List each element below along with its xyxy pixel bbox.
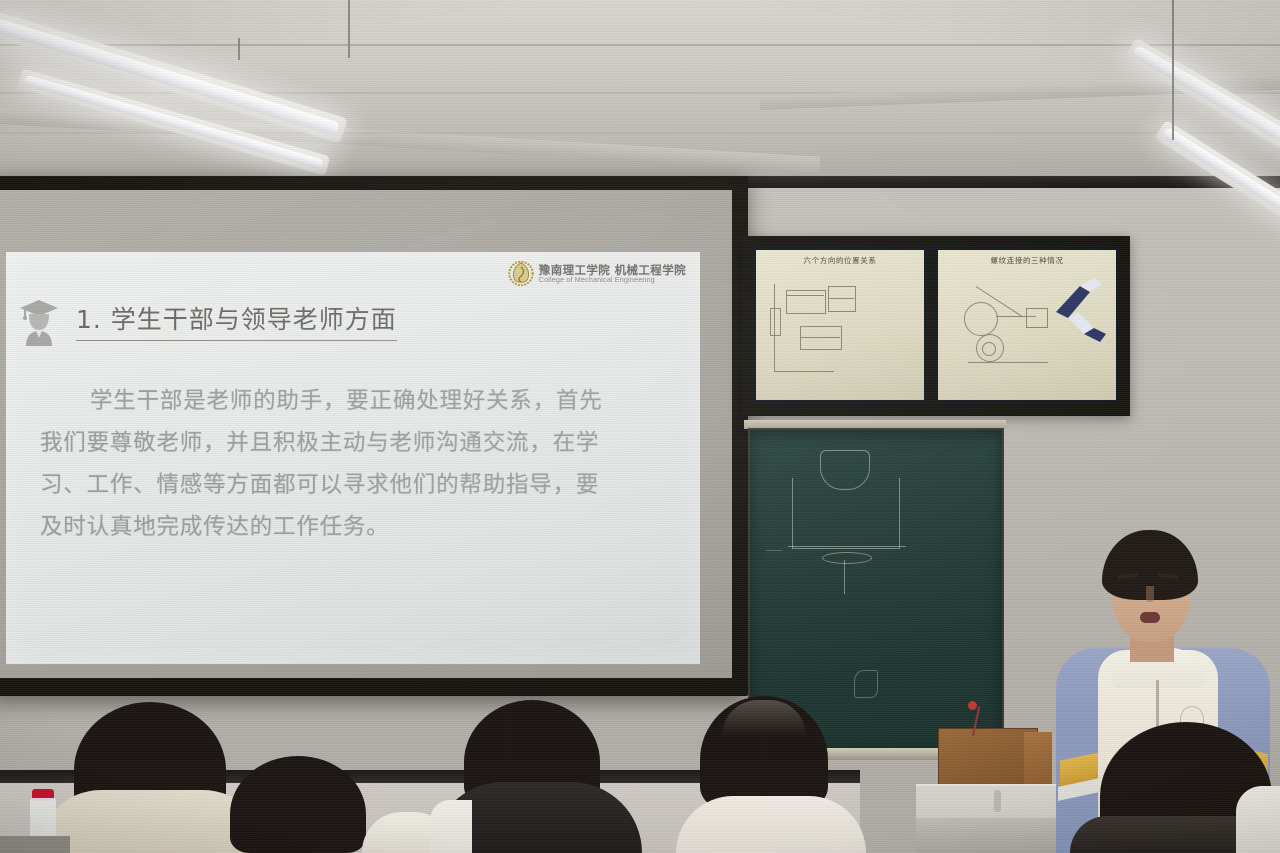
- poster-title-1: 六个方向的位置关系: [756, 255, 924, 266]
- slide-body-line-4: 及时认真地完成传达的工作任务。: [40, 506, 672, 548]
- light-hanging-wire-2: [238, 38, 240, 60]
- logo-english-text: College of Mechanical Engineering: [539, 276, 686, 284]
- logo-chinese-text: 豫南理工学院 机械工程学院: [539, 264, 686, 276]
- projection-screen-frame: 豫南理工学院 机械工程学院 College of Mechanical Engi…: [0, 176, 748, 696]
- audience-member-4-shoulders: [676, 796, 866, 853]
- poster-thread-connection: 螺纹连接的三种情况: [934, 246, 1120, 404]
- poster-board: 六个方向的位置关系 螺纹连接的三种情况: [742, 236, 1130, 416]
- presenter-eye-left: [1121, 584, 1134, 590]
- light-hanging-wire-1: [348, 0, 350, 58]
- graduate-student-icon: [16, 294, 62, 346]
- slide-title-row: 1. 学生干部与领导老师方面: [16, 294, 397, 346]
- audience-member-6-shoulder: [1236, 786, 1280, 853]
- university-emblem-icon: [508, 260, 534, 287]
- presenter-eye-right: [1161, 584, 1174, 590]
- projection-screen-surface: 豫南理工学院 机械工程学院 College of Mechanical Engi…: [0, 190, 732, 678]
- slide-title: 1. 学生干部与领导老师方面: [76, 300, 397, 341]
- slide-body-line-3: 习、工作、情感等方面都可以寻求他们的帮助指导，要: [40, 464, 672, 506]
- audience-member-3-collar: [430, 800, 472, 853]
- presenter-nose: [1146, 586, 1154, 602]
- slide-body-line-1: 学生干部是老师的助手，要正确处理好关系，首先: [40, 380, 672, 422]
- slide-body: 学生干部是老师的助手，要正确处理好关系，首先 我们要尊敬老师，并且积极主动与老师…: [40, 380, 672, 548]
- slide-logo: 豫南理工学院 机械工程学院 College of Mechanical Engi…: [508, 260, 686, 287]
- light-hanging-wire-3: [1172, 0, 1174, 140]
- projected-slide: 豫南理工学院 机械工程学院 College of Mechanical Engi…: [6, 252, 700, 664]
- slide-body-line-2: 我们要尊敬老师，并且积极主动与老师沟通交流，在学: [40, 422, 672, 464]
- lectern-wood-panel: [938, 728, 1038, 788]
- desk-surface-left: [0, 836, 70, 853]
- microphone-icon: [968, 701, 977, 710]
- presenter-mouth: [1140, 612, 1160, 623]
- poster-title-2: 螺纹连接的三种情况: [938, 255, 1116, 266]
- poster-orthographic-views: 六个方向的位置关系: [752, 246, 928, 404]
- lectern-tap: [994, 790, 1001, 812]
- classroom-photo: 豫南理工学院 机械工程学院 College of Mechanical Engi…: [0, 0, 1280, 853]
